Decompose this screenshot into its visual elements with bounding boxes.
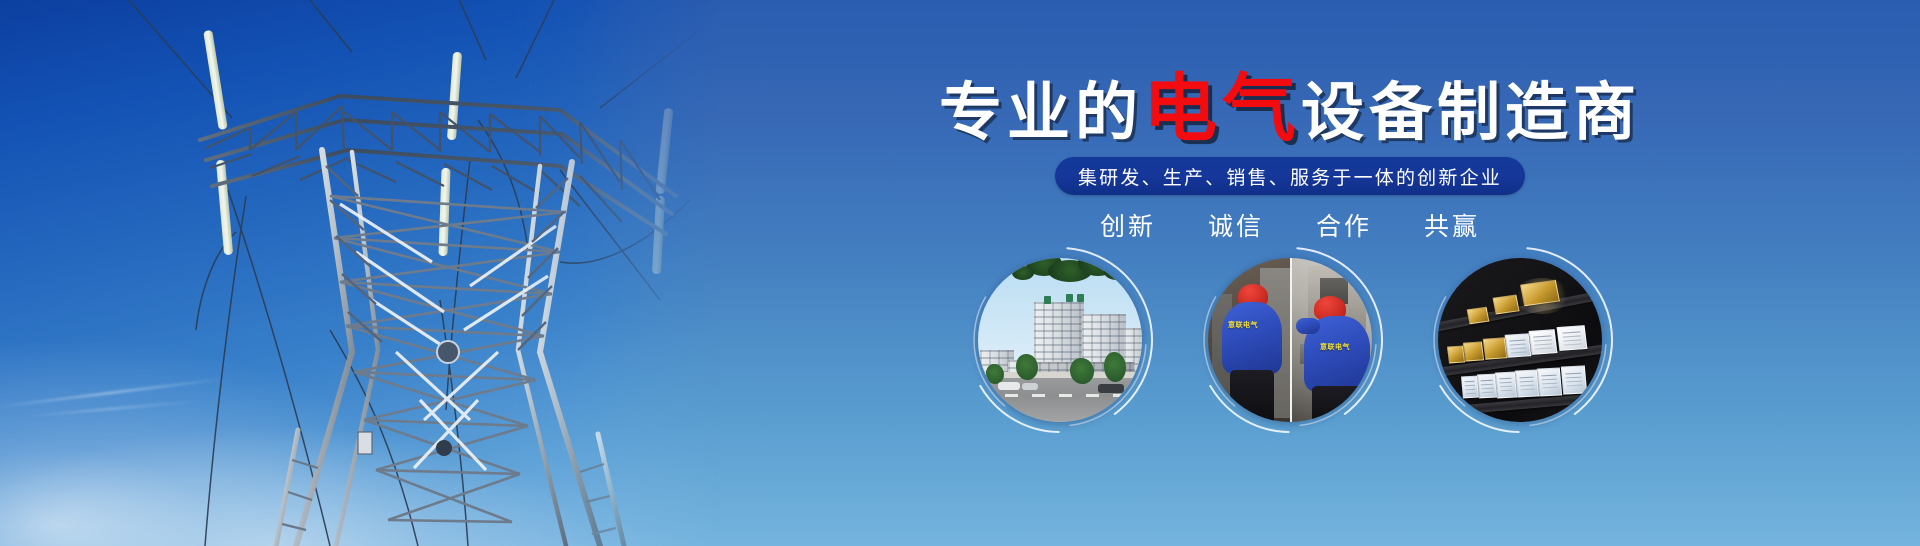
worker-badge-left: 意联电气 [1228, 320, 1258, 330]
pylon-structure [0, 0, 720, 546]
worker-badge-right: 意联电气 [1320, 342, 1350, 352]
value-item-integrity: 诚信 [1208, 207, 1264, 243]
photo-clip [978, 258, 1142, 422]
subtitle-text: 集研发、生产、销售、服务于一体的创新企业 [1078, 163, 1502, 190]
headline-highlight: 电气 [1143, 66, 1301, 152]
value-item-cooperation: 合作 [1316, 207, 1372, 243]
values-row: 创新 诚信 合作 共赢 [660, 207, 1920, 243]
content-panel: 专业的电气设备制造商 集研发、生产、销售、服务于一体的创新企业 创新 诚信 合作… [660, 0, 1920, 546]
circle-photo-workers[interactable]: 意联电气 意联电气 [1208, 258, 1372, 422]
value-item-innovation: 创新 [1100, 207, 1156, 243]
value-item-winwin: 共赢 [1424, 207, 1480, 243]
photo-clip [1438, 258, 1602, 422]
page-title: 专业的电气设备制造商 [660, 72, 1920, 146]
transmission-tower-photo [0, 0, 720, 546]
photo-clip: 意联电气 意联电气 [1208, 258, 1372, 422]
promotional-banner: 专业的电气设备制造商 集研发、生产、销售、服务于一体的创新企业 创新 诚信 合作… [0, 0, 1920, 546]
headline-part-2: 设备制造商 [1301, 76, 1641, 149]
headline-part-1: 专业的 [939, 76, 1143, 149]
circle-photo-certificates[interactable] [1438, 258, 1602, 422]
circle-photo-office-building[interactable] [978, 258, 1142, 422]
subtitle-pill: 集研发、生产、销售、服务于一体的创新企业 [1055, 157, 1525, 195]
photo-circles-row: 意联电气 意联电气 [660, 258, 1920, 422]
